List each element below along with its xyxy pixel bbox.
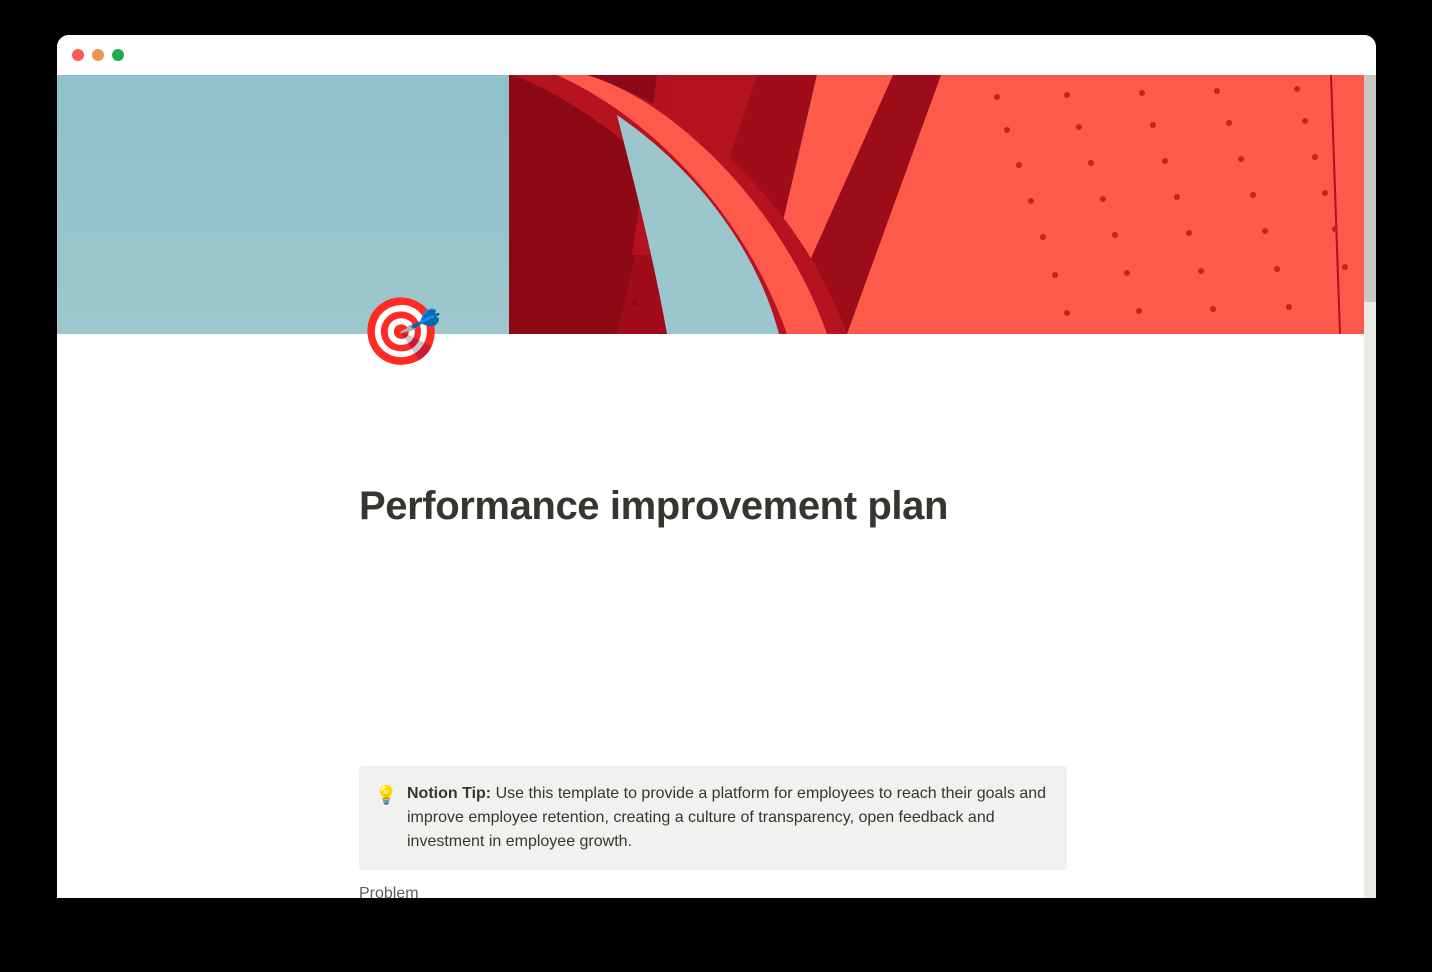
vertical-scrollbar-track[interactable] (1364, 75, 1376, 898)
close-window-button[interactable] (72, 49, 84, 61)
maximize-window-button[interactable] (112, 49, 124, 61)
app-window: 🎯 Performance improvement plan 💡 Notion … (57, 35, 1376, 898)
vertical-scrollbar-thumb[interactable] (1364, 75, 1376, 302)
page-title: Performance improvement plan (359, 482, 1079, 530)
minimize-window-button[interactable] (92, 49, 104, 61)
callout-text: Notion Tip: Use this template to provide… (407, 782, 1051, 854)
notion-tip-callout[interactable]: 💡 Notion Tip: Use this template to provi… (359, 766, 1067, 870)
page-cover-image (57, 75, 1364, 334)
dart-target-emoji[interactable]: 🎯 (360, 292, 438, 370)
callout-body: Use this template to provide a platform … (407, 785, 1046, 850)
document-scroll-area[interactable]: 🎯 Performance improvement plan 💡 Notion … (57, 75, 1376, 898)
callout-label: Notion Tip: (407, 785, 491, 802)
toc-link-problem[interactable]: Problem (359, 879, 419, 898)
window-titlebar (57, 35, 1376, 75)
light-bulb-emoji: 💡 (375, 782, 397, 854)
cover-illustration (57, 75, 1364, 334)
table-of-contents: Problem Proposed solution Check-in point… (359, 879, 1067, 898)
